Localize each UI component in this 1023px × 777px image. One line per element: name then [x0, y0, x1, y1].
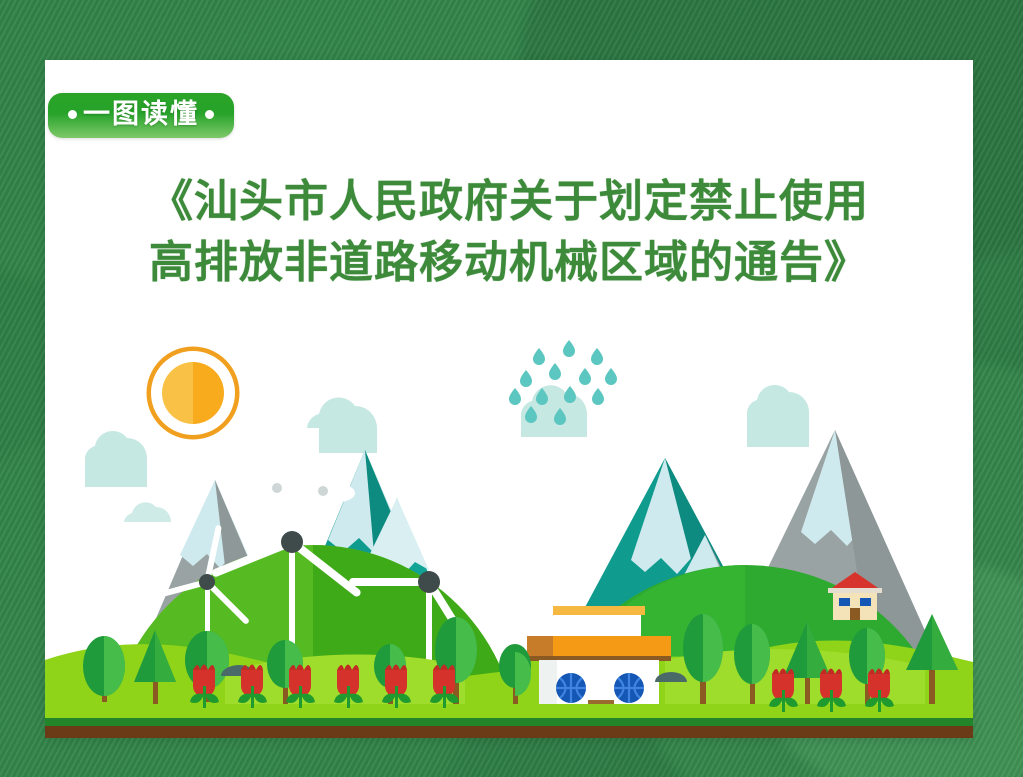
tulip-icon	[382, 665, 411, 709]
sun-icon	[149, 349, 237, 437]
badge-left-dot-icon	[68, 110, 77, 119]
page-title: 《汕头市人民政府关于划定禁止使用 高排放非道路移动机械区域的通告》	[45, 172, 973, 293]
badge-right-dot-icon	[205, 110, 214, 119]
eco-landscape-illustration	[45, 330, 973, 738]
badge-label: 一图读懂	[83, 101, 199, 128]
infographic-badge: 一图读懂	[48, 93, 234, 138]
screenshot-root: 一图读懂 《汕头市人民政府关于划定禁止使用 高排放非道路移动机械区域的通告》	[0, 0, 1023, 777]
tulip-icon	[430, 665, 459, 709]
tulip-icon	[334, 665, 363, 709]
house-window-icon	[614, 673, 644, 703]
tulip-icon	[865, 669, 894, 713]
tulip-icon	[769, 669, 798, 713]
house-window-icon	[556, 673, 586, 703]
tulip-icon	[817, 669, 846, 713]
ground-bands	[45, 704, 973, 738]
page-title-line-2: 高排放非道路移动机械区域的通告》	[45, 233, 973, 294]
page-title-line-1: 《汕头市人民政府关于划定禁止使用	[45, 172, 973, 233]
tulip-icon	[286, 665, 315, 709]
tulip-icon	[190, 665, 219, 709]
tulip-icon	[238, 665, 267, 709]
